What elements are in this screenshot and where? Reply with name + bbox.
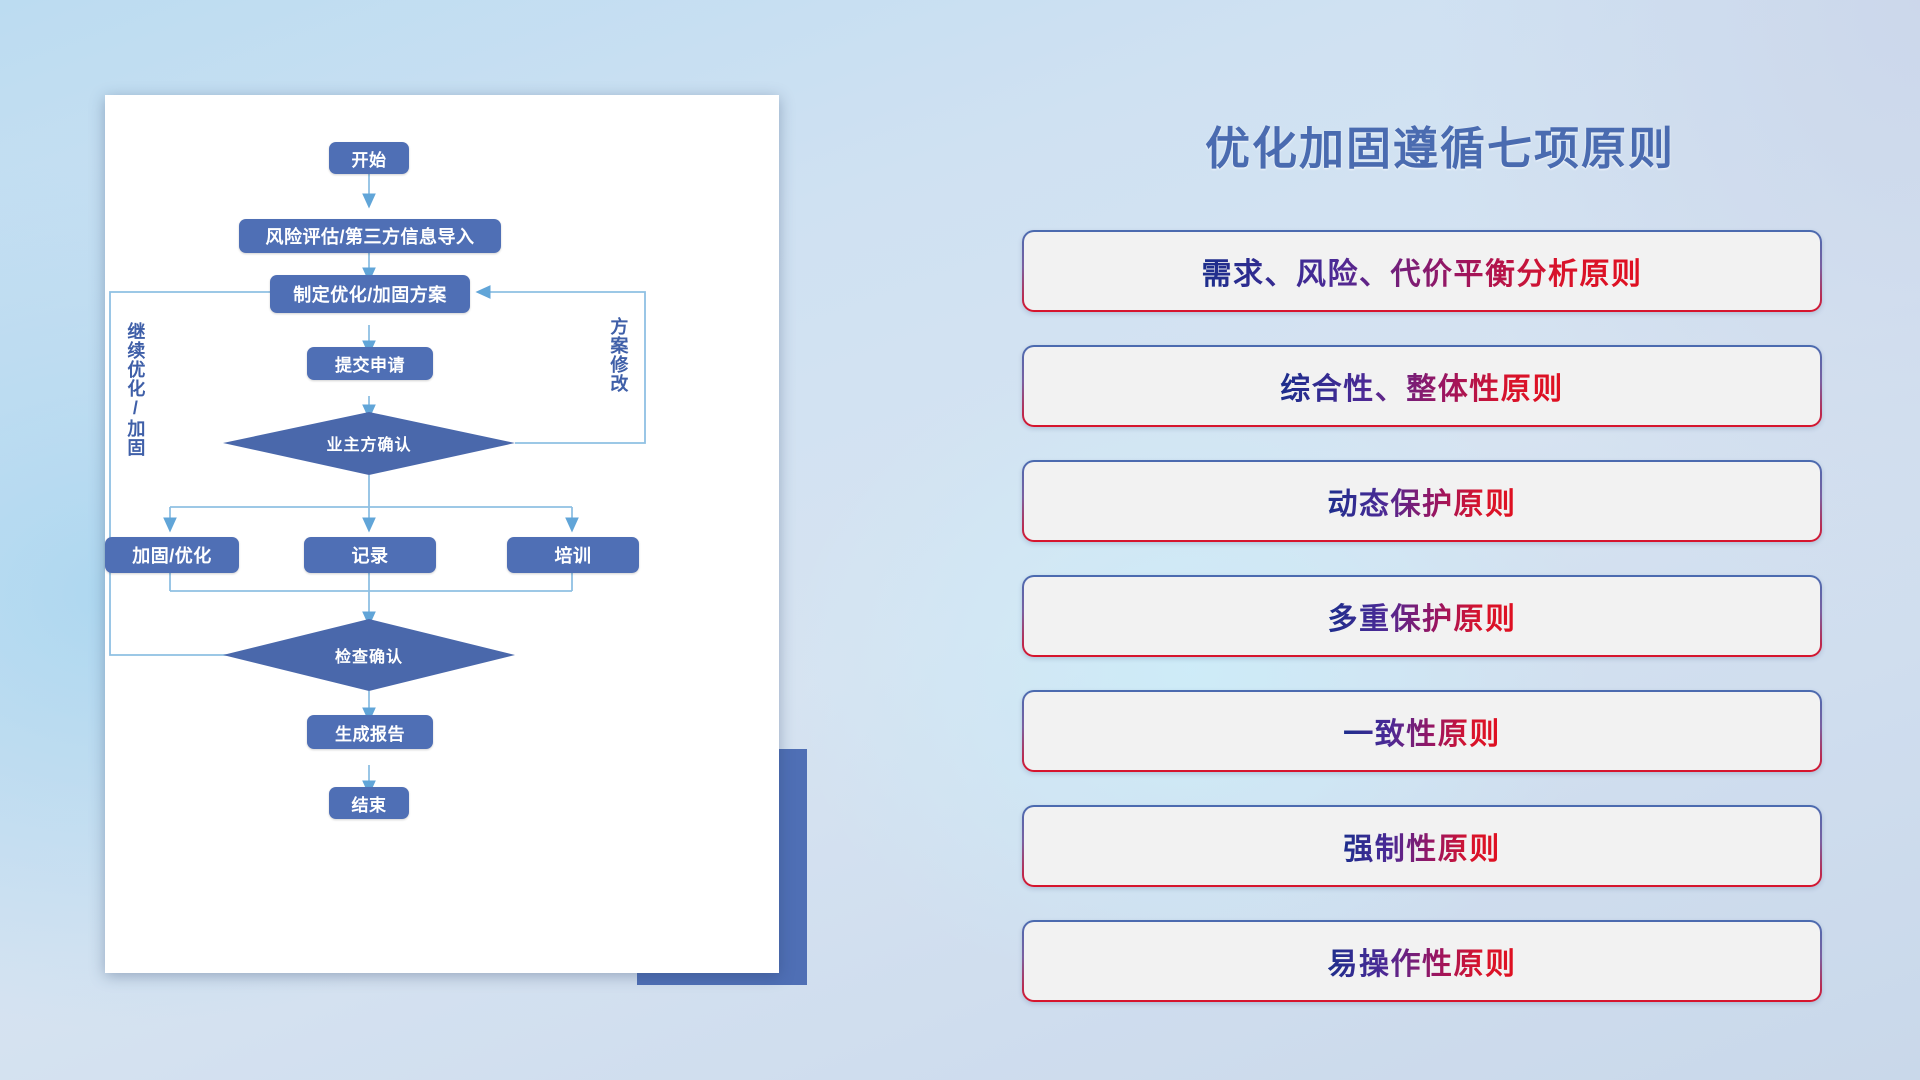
principle-item[interactable]: 多重保护原则 <box>1022 575 1822 657</box>
principle-item-body: 多重保护原则 <box>1024 577 1820 655</box>
flow-node-record[interactable]: 记录 <box>304 537 436 573</box>
principle-item-body: 综合性、整体性原则 <box>1024 347 1820 425</box>
flowchart-card: 开始 风险评估/第三方信息导入 制定优化/加固方案 提交申请 业主方确认 加固/… <box>105 95 779 973</box>
flow-node-check-confirm[interactable]: 检查确认 <box>292 641 446 669</box>
principle-item-label: 易操作性原则 <box>1328 939 1517 983</box>
flow-node-label: 结束 <box>352 791 387 816</box>
principle-item-label: 动态保护原则 <box>1328 479 1517 523</box>
principle-item-label: 一致性原则 <box>1343 709 1501 753</box>
principle-item[interactable]: 易操作性原则 <box>1022 920 1822 1002</box>
page-title: 优化加固遵循七项原则 <box>1040 112 1840 177</box>
flow-edge-label-continue-optimize: 继续优化/加固 <box>126 322 144 457</box>
principle-item-body: 动态保护原则 <box>1024 462 1820 540</box>
slide-canvas: 开始 风险评估/第三方信息导入 制定优化/加固方案 提交申请 业主方确认 加固/… <box>0 0 1920 1080</box>
principle-list: 需求、风险、代价平衡分析原则 综合性、整体性原则 动态保护原则 多重保护原则 一… <box>1022 230 1822 1035</box>
flow-node-start[interactable]: 开始 <box>329 142 409 174</box>
flow-node-risk-assessment[interactable]: 风险评估/第三方信息导入 <box>239 219 501 253</box>
flow-node-submit-application[interactable]: 提交申请 <box>307 347 433 380</box>
principle-item-body: 需求、风险、代价平衡分析原则 <box>1024 232 1820 310</box>
principle-item-body: 一致性原则 <box>1024 692 1820 770</box>
principle-item-label: 综合性、整体性原则 <box>1280 364 1564 408</box>
flow-node-label: 风险评估/第三方信息导入 <box>266 223 475 249</box>
flow-node-generate-report[interactable]: 生成报告 <box>307 715 433 749</box>
flow-node-label: 生成报告 <box>335 720 405 745</box>
flow-node-end[interactable]: 结束 <box>329 787 409 819</box>
flow-node-label: 记录 <box>352 542 389 568</box>
principle-item[interactable]: 动态保护原则 <box>1022 460 1822 542</box>
principle-item[interactable]: 强制性原则 <box>1022 805 1822 887</box>
flow-node-label: 开始 <box>352 146 387 171</box>
flow-node-label: 业主方确认 <box>326 431 411 455</box>
flow-node-label: 加固/优化 <box>132 542 212 568</box>
principle-item-body: 强制性原则 <box>1024 807 1820 885</box>
flow-node-owner-confirm[interactable]: 业主方确认 <box>292 429 446 457</box>
principle-item[interactable]: 一致性原则 <box>1022 690 1822 772</box>
flow-edge-label-plan-revision: 方案修改 <box>609 317 627 393</box>
principle-item-label: 多重保护原则 <box>1328 594 1517 638</box>
flow-node-training[interactable]: 培训 <box>507 537 639 573</box>
principle-item[interactable]: 综合性、整体性原则 <box>1022 345 1822 427</box>
principle-item-label: 需求、风险、代价平衡分析原则 <box>1202 249 1643 293</box>
flow-node-label: 制定优化/加固方案 <box>293 281 447 307</box>
flow-node-reinforce-optimize[interactable]: 加固/优化 <box>105 537 239 573</box>
flow-node-label: 培训 <box>555 542 592 568</box>
principle-item-body: 易操作性原则 <box>1024 922 1820 1000</box>
flow-node-label: 检查确认 <box>335 643 403 667</box>
principle-item-label: 强制性原则 <box>1343 824 1501 868</box>
flow-node-make-plan[interactable]: 制定优化/加固方案 <box>270 275 470 313</box>
principle-item[interactable]: 需求、风险、代价平衡分析原则 <box>1022 230 1822 312</box>
flow-node-label: 提交申请 <box>335 351 405 376</box>
